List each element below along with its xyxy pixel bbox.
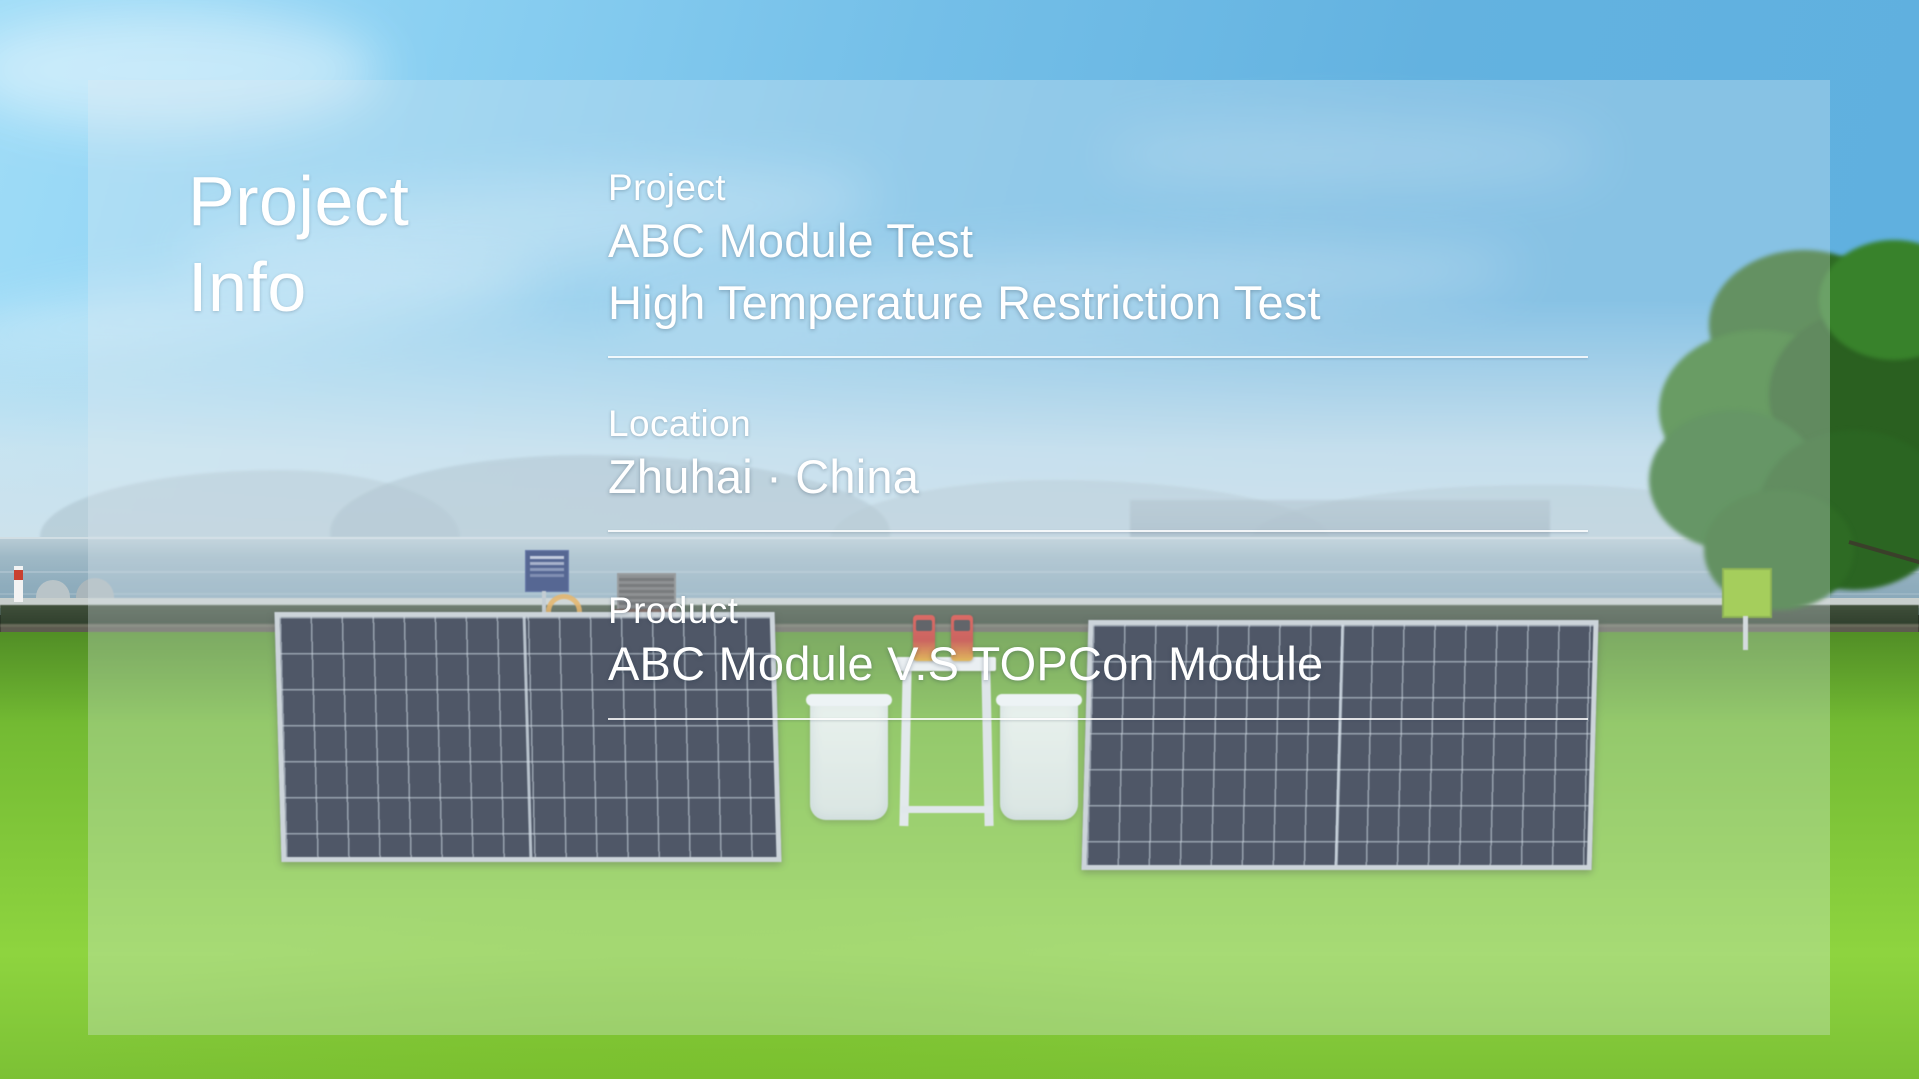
project-info-fields: Project ABC Module Test High Temperature… <box>608 165 1588 720</box>
field-project: Project ABC Module Test High Temperature… <box>608 165 1588 358</box>
field-label-product: Product <box>608 588 1588 633</box>
slide-canvas: Project Info Project ABC Module Test Hig… <box>0 0 1919 1079</box>
field-value-product: ABC Module V.S TOPCon Module <box>608 633 1588 695</box>
bollard-post <box>14 566 23 602</box>
divider-project <box>608 356 1588 358</box>
field-product: Product ABC Module V.S TOPCon Module <box>608 588 1588 719</box>
page-title: Project Info <box>188 158 409 330</box>
field-value-project-name: ABC Module Test <box>608 210 1588 272</box>
field-location: Location Zhuhai · China <box>608 401 1588 532</box>
field-label-location: Location <box>608 401 1588 446</box>
divider-product <box>608 718 1588 720</box>
field-value-location: Zhuhai · China <box>608 446 1588 508</box>
field-value-project-subtitle: High Temperature Restriction Test <box>608 272 1588 334</box>
divider-location <box>608 530 1588 532</box>
field-label-project: Project <box>608 165 1588 210</box>
